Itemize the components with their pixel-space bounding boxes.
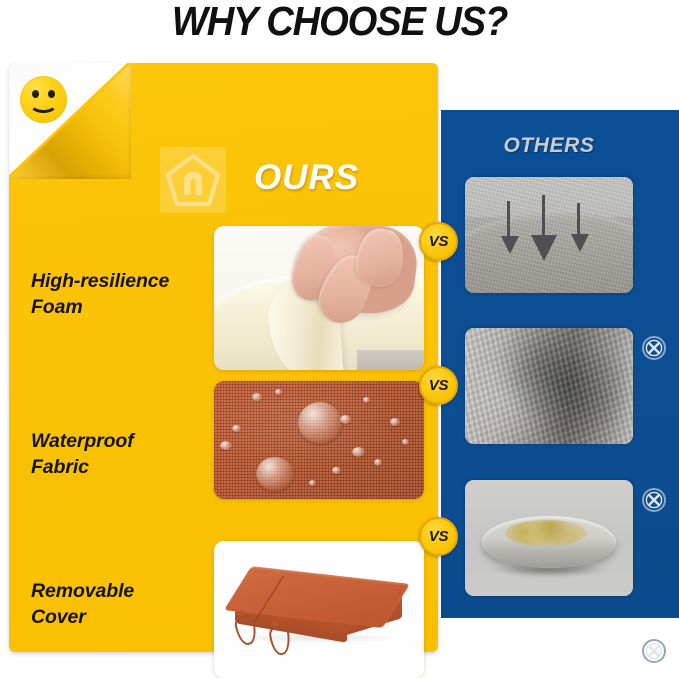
down-arrow-stem [507, 201, 510, 239]
wet-fabric-texture [465, 328, 633, 444]
others-panel: OTHERS [441, 110, 679, 618]
ours-panel: OURS High-resilience Foam Waterproof Fab… [9, 63, 438, 652]
stain-marks [505, 520, 587, 546]
terracotta-cushion-with-ties-photo [214, 541, 424, 678]
circle-x-icon [641, 638, 667, 664]
circle-x-icon [641, 487, 667, 513]
water-beading-on-fabric-photo [214, 381, 424, 499]
hand-pressing-foam-photo [214, 226, 424, 370]
feature-label-line: Cover [31, 605, 211, 631]
feature-label-waterproof-fabric: Waterproof Fabric [31, 429, 211, 480]
down-arrow-icon [501, 236, 519, 254]
vs-badge: VS [419, 222, 458, 261]
water-droplet [232, 425, 241, 432]
page-title: WHY CHOOSE US? [24, 0, 655, 45]
tie-knot [238, 611, 245, 616]
water-droplet [402, 439, 409, 445]
water-droplet [374, 459, 382, 466]
house-pentagon-logo [160, 147, 226, 213]
others-title: OTHERS [441, 134, 657, 158]
water-droplet [352, 447, 365, 457]
vs-badge: VS [419, 366, 458, 405]
water-bead [298, 402, 342, 444]
feature-label-line: Removable [31, 579, 211, 605]
foam-edge-shadow [357, 350, 424, 370]
water-droplet [275, 389, 282, 395]
water-droplet [340, 415, 351, 424]
sagging-surface-with-down-arrows-photo [465, 177, 633, 293]
water-droplet [220, 441, 232, 450]
feature-label-line: High-resilience [31, 269, 211, 295]
feature-label-line: Fabric [31, 455, 211, 481]
tie-knot [272, 621, 279, 626]
feature-label-high-resilience-foam: High-resilience Foam [31, 269, 211, 320]
down-arrow-icon [571, 234, 589, 252]
vs-badge: VS [419, 517, 458, 556]
wet-stained-gray-fabric-photo [465, 328, 633, 444]
smiley-face-icon [20, 76, 67, 123]
water-droplet [332, 467, 341, 474]
feature-label-removable-cover: Removable Cover [31, 579, 211, 630]
water-droplet [390, 418, 400, 426]
feature-label-line: Waterproof [31, 429, 211, 455]
ours-title: OURS [254, 158, 359, 198]
water-droplet [252, 393, 262, 401]
circle-x-icon [641, 335, 667, 361]
smiley-mouth [29, 93, 58, 113]
feature-label-line: Foam [31, 295, 211, 321]
infographic-canvas: WHY CHOOSE US? OTHERS [0, 0, 679, 662]
down-arrow-stem [577, 203, 580, 237]
down-arrow-stem [542, 195, 545, 237]
water-droplet [309, 480, 316, 486]
stained-gray-round-cushion-photo [465, 480, 633, 596]
down-arrow-icon [531, 235, 557, 261]
water-bead [256, 457, 294, 491]
water-droplet [363, 397, 370, 403]
